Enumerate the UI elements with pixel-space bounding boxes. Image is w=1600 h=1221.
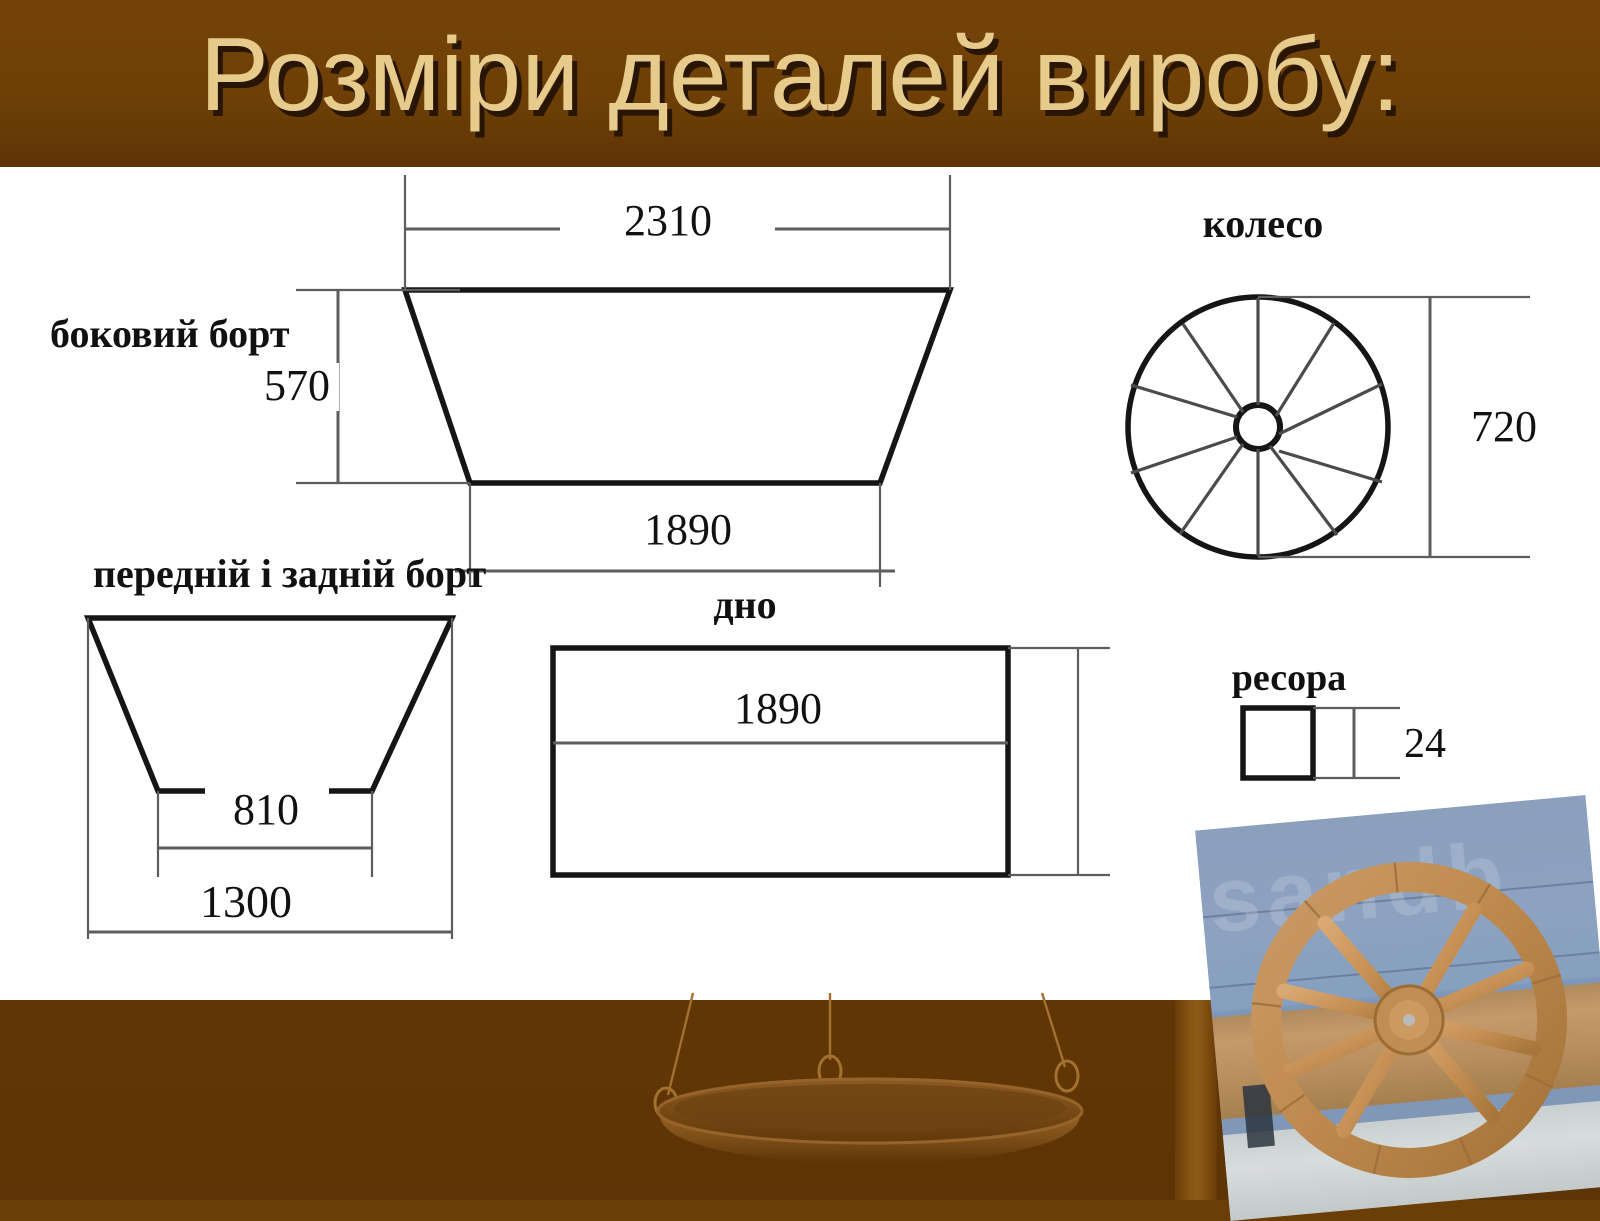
dim-label-top-width: 2310 [624, 196, 712, 245]
front-rear-board-outline [88, 618, 452, 791]
wheel-spokes [1131, 298, 1382, 556]
title-band: Розміри деталей виробу: [0, 0, 1600, 167]
side-board-outline [405, 290, 950, 483]
dim-label-thickness: 24 [1404, 721, 1446, 767]
dim-label-top-width-2: 1300 [200, 876, 292, 927]
part-label-front-rear-board: передній і задній борт [93, 551, 487, 596]
dim-label-width-3: 1890 [734, 684, 822, 733]
part-spring: ресора 24 [1232, 657, 1446, 778]
photo-wheel-graphic [1195, 795, 1600, 1221]
part-wheel: колесо [1128, 201, 1564, 557]
part-label-side-board: боковий борт [50, 311, 290, 356]
dim-label-diameter: 720 [1471, 402, 1537, 451]
spring-outline [1243, 708, 1313, 778]
part-label-spring: ресора [1232, 657, 1346, 699]
dim-label-bottom-width: 1890 [644, 505, 732, 554]
part-front-rear-board: передній і задній борт 810 1300 [88, 551, 487, 939]
pan-bowl [658, 1079, 1082, 1164]
part-bottom-panel: дно 1890 [553, 582, 1110, 875]
part-label-wheel: колесо [1203, 201, 1323, 246]
part-label-bottom-panel: дно [713, 582, 776, 627]
slide-background: Розміри деталей виробу: .obj { fill:none… [0, 0, 1600, 1200]
hanging-pan-ornament [490, 975, 1210, 1200]
page-title: Розміри деталей виробу: [0, 12, 1600, 139]
bottom-panel-outline [553, 648, 1008, 875]
dim-label-bottom-width-2: 810 [233, 785, 299, 834]
wagon-wheel-photo: sandb [1195, 795, 1600, 1221]
dim-label-height: 570 [264, 361, 330, 410]
part-side-board: 2310 570 боковий борт 1890 [50, 175, 950, 587]
